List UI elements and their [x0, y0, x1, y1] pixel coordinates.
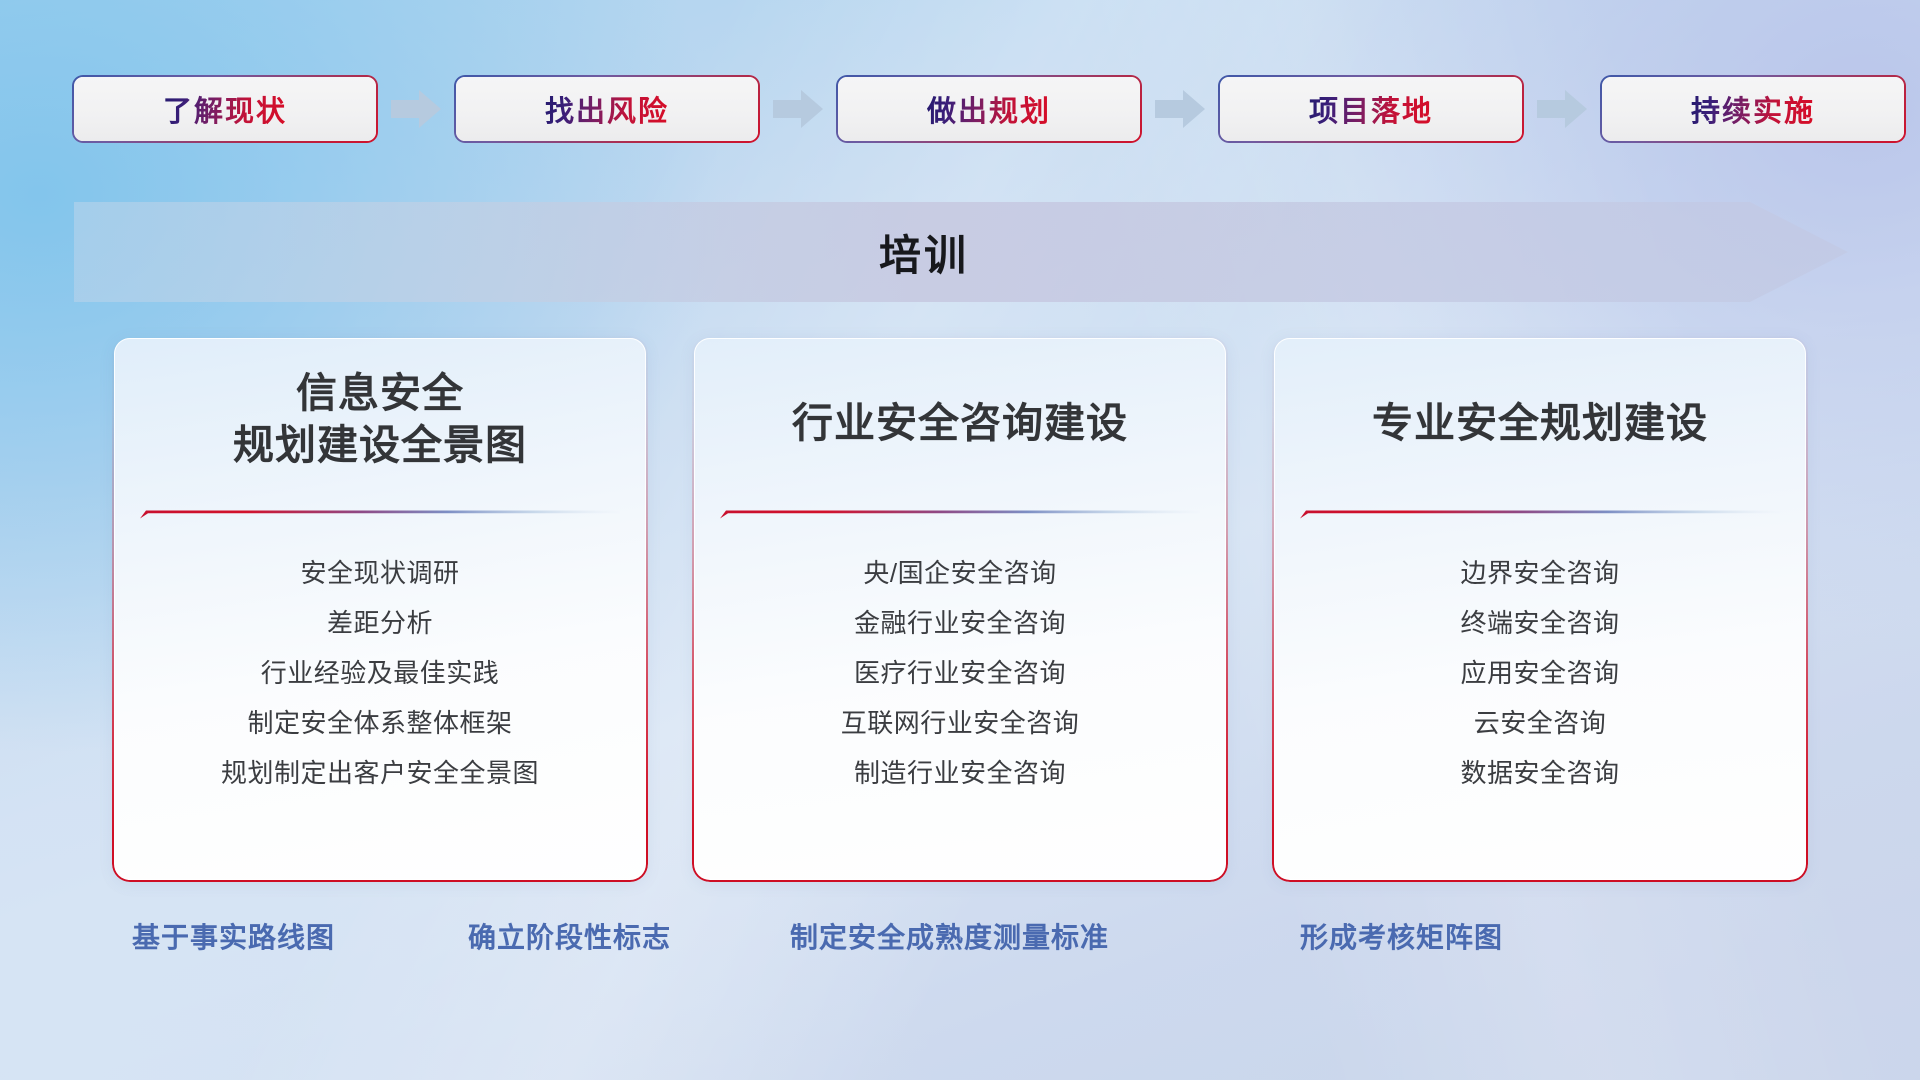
- step-box-2-surface: 找出风险: [456, 77, 758, 141]
- step-box-1[interactable]: 了解现状: [74, 77, 376, 141]
- step-box-3[interactable]: 做出规划: [838, 77, 1140, 141]
- list-item: 差距分析: [132, 598, 628, 648]
- step-label-1: 了解现状: [163, 88, 287, 130]
- list-item: 互联网行业安全咨询: [712, 698, 1208, 748]
- card-1-title-line1: 信息安全: [132, 368, 628, 420]
- card-1-title: 信息安全 规划建设全景图: [114, 368, 646, 471]
- right-arrow-icon: [1153, 87, 1207, 131]
- list-item: 制定安全体系整体框架: [132, 698, 628, 748]
- card-industry-security-consulting[interactable]: 行业安全咨询建设: [694, 338, 1226, 880]
- right-arrow-icon: [389, 87, 443, 131]
- caption-4: 形成考核矩阵图: [1300, 916, 1503, 956]
- list-item: 数据安全咨询: [1292, 748, 1788, 798]
- list-item: 边界安全咨询: [1292, 548, 1788, 598]
- step-label-3: 做出规划: [927, 88, 1051, 130]
- list-item: 云安全咨询: [1292, 698, 1788, 748]
- process-steps-row: 了解现状 找出风险 做出规划: [74, 76, 1846, 142]
- step-box-4-surface: 项目落地: [1220, 77, 1522, 141]
- card-2-title-line1: 行业安全咨询建设: [712, 398, 1208, 450]
- card-2-divider: [720, 510, 1200, 519]
- right-arrow-icon: [771, 87, 825, 131]
- step-box-5[interactable]: 持续实施: [1602, 77, 1904, 141]
- right-arrow-icon: [1535, 87, 1589, 131]
- card-1-title-line2: 规划建设全景图: [132, 420, 628, 472]
- training-banner: 培训: [74, 202, 1848, 302]
- slide-canvas: 了解现状 找出风险 做出规划: [0, 0, 1920, 1080]
- card-3-list: 边界安全咨询 终端安全咨询 应用安全咨询 云安全咨询 数据安全咨询: [1274, 548, 1806, 798]
- card-3-title: 专业安全规划建设: [1274, 398, 1806, 450]
- card-2-title: 行业安全咨询建设: [694, 398, 1226, 450]
- step-box-3-surface: 做出规划: [838, 77, 1140, 141]
- step-box-2[interactable]: 找出风险: [456, 77, 758, 141]
- cards-row: 信息安全 规划建设全景图: [0, 338, 1920, 880]
- list-item: 央/国企安全咨询: [712, 548, 1208, 598]
- list-item: 终端安全咨询: [1292, 598, 1788, 648]
- card-3-divider: [1300, 510, 1780, 519]
- card-information-security-panorama[interactable]: 信息安全 规划建设全景图: [114, 338, 646, 880]
- card-professional-security-planning[interactable]: 专业安全规划建设: [1274, 338, 1806, 880]
- captions-row: 基于事实路线图 确立阶段性标志 制定安全成熟度测量标准 形成考核矩阵图: [0, 916, 1920, 964]
- banner-title: 培训: [74, 202, 1774, 302]
- list-item: 制造行业安全咨询: [712, 748, 1208, 798]
- card-1-list: 安全现状调研 差距分析 行业经验及最佳实践 制定安全体系整体框架 规划制定出客户…: [114, 548, 646, 798]
- caption-3: 制定安全成熟度测量标准: [790, 916, 1109, 956]
- step-box-1-surface: 了解现状: [74, 77, 376, 141]
- step-label-5: 持续实施: [1691, 88, 1815, 130]
- caption-1: 基于事实路线图: [132, 916, 335, 956]
- list-item: 安全现状调研: [132, 548, 628, 598]
- list-item: 规划制定出客户安全全景图: [132, 748, 628, 798]
- step-box-5-surface: 持续实施: [1602, 77, 1904, 141]
- card-1-divider: [140, 510, 620, 519]
- step-label-2: 找出风险: [545, 88, 669, 130]
- list-item: 金融行业安全咨询: [712, 598, 1208, 648]
- step-label-4: 项目落地: [1309, 88, 1433, 130]
- card-2-list: 央/国企安全咨询 金融行业安全咨询 医疗行业安全咨询 互联网行业安全咨询 制造行…: [694, 548, 1226, 798]
- list-item: 医疗行业安全咨询: [712, 648, 1208, 698]
- card-3-title-line1: 专业安全规划建设: [1292, 398, 1788, 450]
- list-item: 行业经验及最佳实践: [132, 648, 628, 698]
- step-box-4[interactable]: 项目落地: [1220, 77, 1522, 141]
- caption-2: 确立阶段性标志: [468, 916, 671, 956]
- list-item: 应用安全咨询: [1292, 648, 1788, 698]
